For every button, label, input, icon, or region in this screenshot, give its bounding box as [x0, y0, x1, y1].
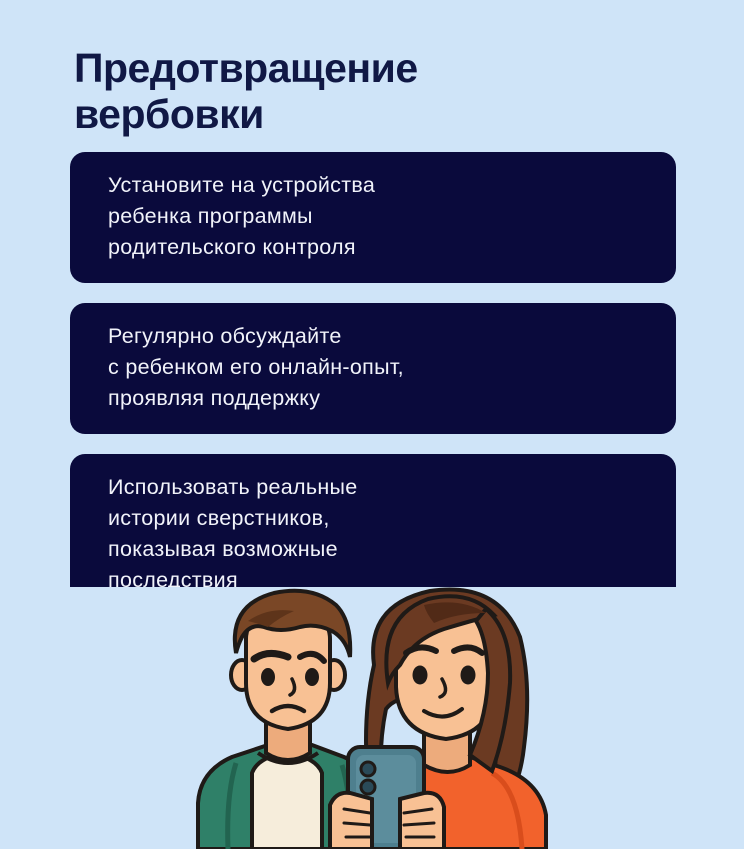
advice-card-text: Установите на устройства ребенка програм… — [108, 170, 642, 263]
advice-card: Регулярно обсуждайте с ребенком его онла… — [70, 303, 676, 434]
hand-left — [330, 793, 372, 849]
smartphone-camera-lens-bottom — [361, 780, 375, 794]
advice-card-text: Использовать реальные истории сверстнико… — [108, 472, 642, 596]
boy-eye-left — [261, 668, 275, 686]
advice-card: Установите на устройства ребенка програм… — [70, 152, 676, 283]
boy-eye-right — [305, 668, 319, 686]
advice-card-list: Установите на устройства ребенка програм… — [70, 152, 676, 636]
hand-right — [400, 793, 444, 849]
woman-eye-left — [413, 666, 428, 685]
page-title: Предотвращение вербовки — [74, 45, 674, 137]
poster-root: Предотвращение вербовки Установите на ус… — [0, 0, 744, 849]
woman-eye-right — [461, 666, 476, 685]
illustration-people-with-phone — [0, 587, 744, 849]
advice-card-text: Регулярно обсуждайте с ребенком его онла… — [108, 321, 642, 414]
boy-shirt-panel — [252, 753, 322, 849]
smartphone-camera-lens-top — [361, 762, 375, 776]
